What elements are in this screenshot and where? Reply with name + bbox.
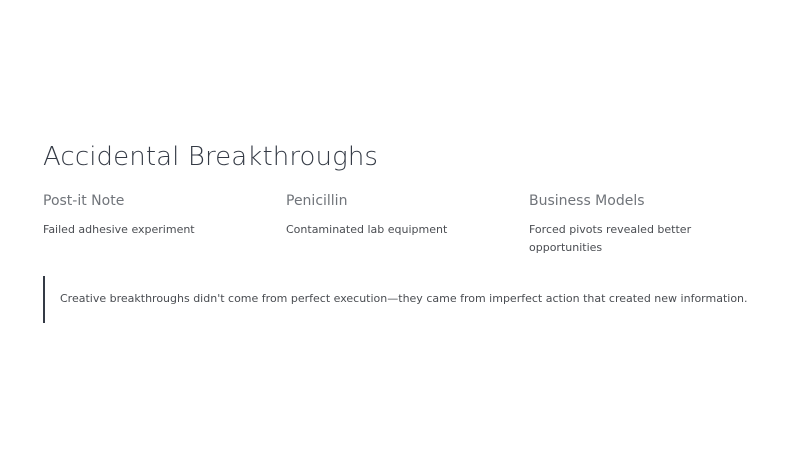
page-title: Accidental Breakthroughs <box>43 142 378 173</box>
column-body-post-it-note: Failed adhesive experiment <box>43 221 248 240</box>
column-item: Penicillin Contaminated lab equipment <box>286 193 491 258</box>
column-item: Business Models Forced pivots revealed b… <box>529 193 734 258</box>
quote-callout: Creative breakthroughs didn't come from … <box>43 276 757 323</box>
column-heading-post-it-note: Post-it Note <box>43 193 248 211</box>
quote-text: Creative breakthroughs didn't come from … <box>45 291 748 308</box>
column-group: Post-it Note Failed adhesive experiment … <box>43 193 757 258</box>
presentation-slide: Accidental Breakthroughs Post-it Note Fa… <box>0 0 800 450</box>
column-body-penicillin: Contaminated lab equipment <box>286 221 491 240</box>
column-item: Post-it Note Failed adhesive experiment <box>43 193 248 258</box>
column-body-business-models: Forced pivots revealed better opportunit… <box>529 221 734 259</box>
column-heading-business-models: Business Models <box>529 193 734 211</box>
column-heading-penicillin: Penicillin <box>286 193 491 211</box>
